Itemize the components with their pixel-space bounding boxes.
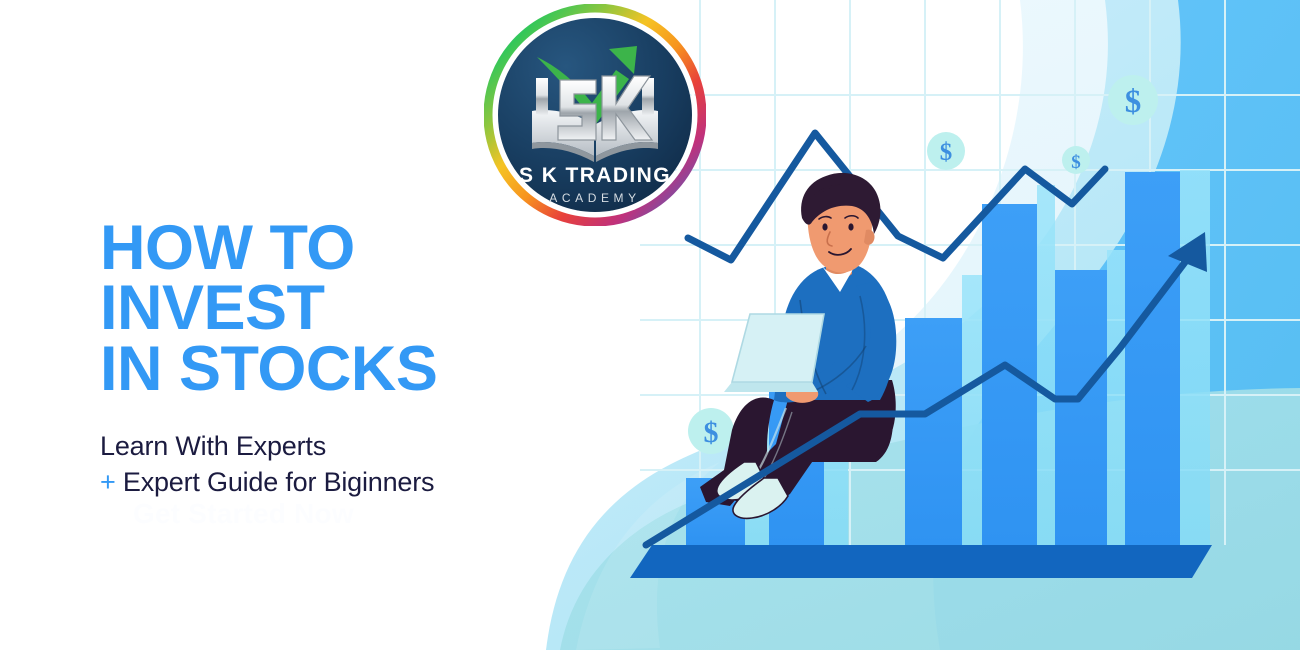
plus-symbol: + xyxy=(100,467,116,497)
banner-root: $ $ $ $ xyxy=(0,0,1300,650)
sk-trading-academy-logo[interactable]: S K TRADING ACADEMY xyxy=(484,4,706,226)
coin-4: $ xyxy=(1108,75,1158,125)
get-started-cta[interactable]: Get Started Now xyxy=(133,498,354,530)
bar-3 xyxy=(905,318,962,545)
svg-text:$: $ xyxy=(704,416,719,449)
coin-2: $ xyxy=(927,132,965,170)
svg-text:$: $ xyxy=(1071,152,1081,173)
page-title: HOW TO INVEST IN STOCKS xyxy=(100,218,580,399)
bar-6 xyxy=(1125,172,1180,545)
svg-text:$: $ xyxy=(1125,84,1142,120)
hero-subtitle: Learn With Experts + Expert Guide for Bi… xyxy=(100,399,580,499)
subtitle-line-2: Expert Guide for Biginners xyxy=(116,467,435,497)
hero-copy: HOW TO INVEST IN STOCKS Learn With Exper… xyxy=(100,218,580,500)
logo-title: S K TRADING xyxy=(519,164,671,187)
coin-1: $ xyxy=(688,408,734,454)
seated-investor xyxy=(700,173,896,519)
svg-text:$: $ xyxy=(940,139,953,166)
logo-graphic: S K TRADING ACADEMY xyxy=(484,4,706,226)
subtitle-line-1: Learn With Experts xyxy=(100,431,326,461)
coin-3: $ xyxy=(1062,146,1090,174)
chart-base-platform xyxy=(630,545,1212,578)
bar-5 xyxy=(1055,270,1107,545)
laptop xyxy=(724,314,824,392)
logo-subtitle: ACADEMY xyxy=(549,191,641,205)
